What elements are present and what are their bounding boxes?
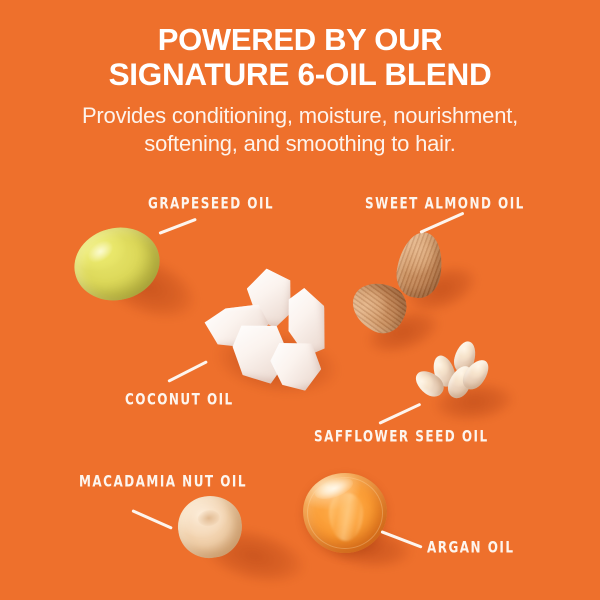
grape-highlight: [84, 236, 117, 267]
leader-line-sweet-almond: [419, 212, 464, 234]
leader-line-grapeseed: [158, 218, 196, 235]
label-sweet-almond-oil: SWEET ALMOND OIL: [365, 195, 525, 213]
label-argan-oil: ARGAN OIL: [427, 539, 514, 557]
headline-line-1: POWERED BY OUR: [0, 22, 600, 57]
subhead-line-2: softening, and smoothing to hair.: [0, 130, 600, 158]
headline-line-2: SIGNATURE 6-OIL BLEND: [0, 57, 600, 92]
oil-blend-infographic: POWERED BY OUR SIGNATURE 6-OIL BLEND Pro…: [0, 0, 600, 600]
leader-line-macadamia: [131, 509, 172, 530]
grape-image: [67, 219, 168, 310]
subhead-line-1: Provides conditioning, moisture, nourish…: [0, 102, 600, 130]
argan-oil-droplet-image: [303, 473, 387, 553]
macadamia-nut-image: [174, 492, 246, 562]
argan-rim: [307, 477, 383, 549]
leader-line-argan: [380, 530, 422, 549]
leader-line-coconut: [167, 360, 208, 383]
label-coconut-oil: COCONUT OIL: [125, 391, 234, 409]
header-block: POWERED BY OUR SIGNATURE 6-OIL BLEND Pro…: [0, 22, 600, 158]
leader-line-safflower: [378, 403, 421, 425]
label-safflower-seed-oil: SAFFLOWER SEED OIL: [314, 428, 489, 446]
label-macadamia-nut-oil: MACADAMIA NUT OIL: [79, 473, 247, 491]
macadamia-dimple: [197, 509, 221, 528]
label-grapeseed-oil: GRAPESEED OIL: [148, 195, 274, 213]
